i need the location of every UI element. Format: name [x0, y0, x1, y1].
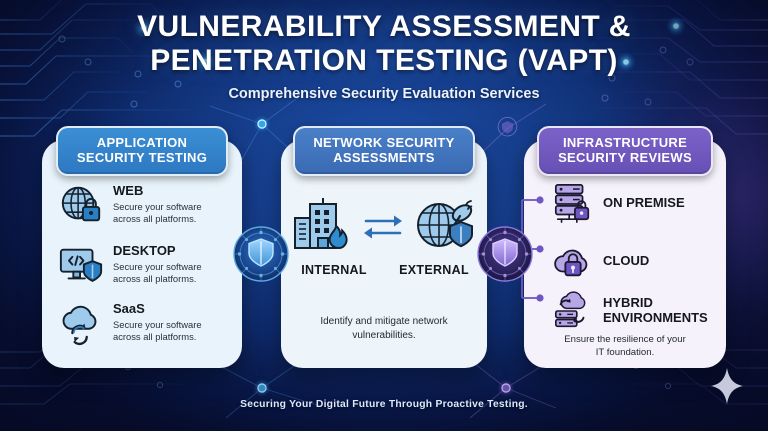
list-item-title-line-1: ON PREMISE: [603, 196, 685, 211]
card3-heading-line-2: SECURITY REVIEWS: [549, 150, 701, 165]
card2-heading-line-1: NETWORK SECURITY: [305, 135, 463, 150]
list-item-title: DESKTOP: [113, 244, 225, 258]
shield-badge-purple: [477, 226, 533, 282]
list-item-hybrid-environments[interactable]: HYBRID ENVIRONMENTS: [552, 290, 708, 332]
title-line-2: PENETRATION TESTING (VAPT): [0, 44, 768, 78]
card3-footer-line-1: Ensure the resilience of your: [524, 334, 726, 347]
card3-heading-line-1: INFRASTRUCTURE: [549, 135, 701, 150]
page-subtitle: Comprehensive Security Evaluation Servic…: [0, 86, 768, 102]
network-diagram-labels: INTERNAL EXTERNAL: [281, 263, 487, 277]
card2-heading-line-2: ASSESSMENTS: [305, 150, 463, 165]
list-item-cloud[interactable]: CLOUD: [552, 240, 649, 282]
list-item-saas[interactable]: SaaS Secure your software across all pla…: [58, 300, 225, 346]
card1-heading-line-2: SECURITY TESTING: [68, 150, 216, 165]
hybrid-server-cloud-icon: [552, 290, 594, 332]
list-item-title-line-2: ENVIRONMENTS: [603, 311, 708, 326]
desktop-shield-code-icon: [58, 242, 104, 288]
list-item-title-line-1: HYBRID: [603, 296, 708, 311]
page-title: VULNERABILITY ASSESSMENT & PENETRATION T…: [0, 10, 768, 77]
title-line-1: VULNERABILITY ASSESSMENT &: [0, 10, 768, 44]
list-item-title: ON PREMISE: [603, 196, 685, 211]
network-diagram: INTERNAL EXTERNAL: [281, 196, 487, 277]
card3-footer-line-2: IT foundation.: [524, 347, 726, 360]
card2-footer-line-1: Identify and mitigate network: [281, 315, 487, 329]
shield-badge-blue: [233, 226, 289, 282]
server-lock-icon: [552, 182, 594, 224]
list-item-desktop[interactable]: DESKTOP Secure your software across all …: [58, 242, 225, 288]
footer-tagline: Securing Your Digital Future Through Pro…: [0, 399, 768, 410]
list-item-title: SaaS: [113, 302, 225, 316]
card3-footer-text: Ensure the resilience of your IT foundat…: [524, 334, 726, 360]
card2-footer-text: Identify and mitigate network vulnerabil…: [281, 315, 487, 342]
cloud-sync-icon: [58, 300, 104, 346]
list-item-web[interactable]: WEB Secure your software across all plat…: [58, 182, 225, 228]
label-internal: INTERNAL: [295, 263, 373, 277]
list-item-description: Secure your software across all platform…: [113, 201, 225, 225]
list-item-title-line-1: CLOUD: [603, 254, 649, 269]
infographic-header: VULNERABILITY ASSESSMENT & PENETRATION T…: [0, 10, 768, 102]
list-item-title: HYBRID ENVIRONMENTS: [603, 296, 708, 325]
cloud-lock-icon: [552, 240, 594, 282]
list-item-description: Secure your software across all platform…: [113, 261, 225, 285]
list-item-on-premise[interactable]: ON PREMISE: [552, 182, 685, 224]
globe-lock-icon: [58, 182, 104, 228]
infographic-canvas: VULNERABILITY ASSESSMENT & PENETRATION T…: [0, 0, 768, 431]
four-point-star-icon: [710, 367, 744, 405]
building-firewall-icon: [289, 196, 355, 258]
bidirectional-arrows-icon: [361, 207, 405, 247]
card-header-application-security-testing: APPLICATION SECURITY TESTING: [56, 126, 228, 176]
list-item-title: CLOUD: [603, 254, 649, 269]
label-external: EXTERNAL: [395, 263, 473, 277]
globe-satellite-shield-icon: [411, 196, 479, 258]
list-item-title: WEB: [113, 184, 225, 198]
card2-footer-line-2: vulnerabilities.: [281, 329, 487, 343]
card1-heading-line-1: APPLICATION: [68, 135, 216, 150]
list-item-description: Secure your software across all platform…: [113, 319, 225, 343]
card-header-infrastructure-security-reviews: INFRASTRUCTURE SECURITY REVIEWS: [537, 126, 713, 176]
card-header-network-security-assessments: NETWORK SECURITY ASSESSMENTS: [293, 126, 475, 176]
